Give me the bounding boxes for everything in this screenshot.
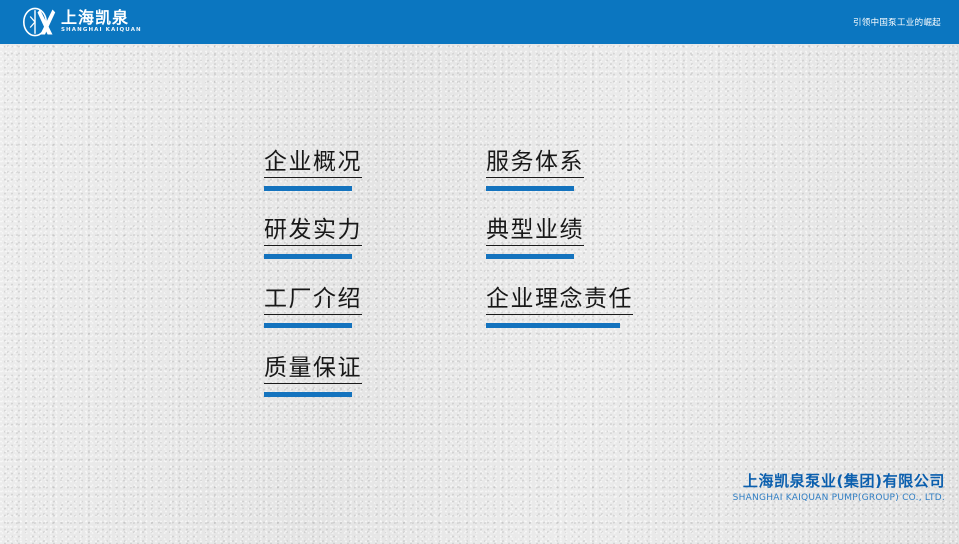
menu-item-label: 质量保证 (264, 354, 362, 384)
menu-item-quality-assurance[interactable]: 质量保证 (264, 354, 362, 397)
menu-item-label: 企业概况 (264, 148, 362, 178)
menu-item-corporate-philosophy-responsibility[interactable]: 企业理念责任 (486, 285, 633, 328)
menu-item-accent-bar (264, 186, 352, 191)
company-logo: 上海凯泉 SHANGHAI KAIQUAN (22, 7, 142, 37)
menu-item-accent-bar (486, 254, 574, 259)
menu-item-rd-strength[interactable]: 研发实力 (264, 216, 362, 259)
menu-item-company-overview[interactable]: 企业概况 (264, 148, 362, 191)
presentation-slide: 上海凯泉 SHANGHAI KAIQUAN 引领中国泵工业的崛起 企业概况 研发… (0, 0, 959, 544)
menu-item-accent-bar (264, 323, 352, 328)
menu-item-accent-bar (264, 254, 352, 259)
slide-header-bar: 上海凯泉 SHANGHAI KAIQUAN 引领中国泵工业的崛起 (0, 0, 959, 44)
header-slogan: 引领中国泵工业的崛起 (853, 16, 941, 28)
menu-item-typical-performance[interactable]: 典型业绩 (486, 216, 584, 259)
menu-item-accent-bar (264, 392, 352, 397)
logo-name-en: SHANGHAI KAIQUAN (61, 28, 142, 34)
footer-company-signature: 上海凯泉泵业(集团)有限公司 SHANGHAI KAIQUAN PUMP(GRO… (733, 472, 945, 504)
menu-item-label: 研发实力 (264, 216, 362, 246)
menu-item-service-system[interactable]: 服务体系 (486, 148, 584, 191)
logo-wordmark: 上海凯泉 SHANGHAI KAIQUAN (61, 10, 142, 34)
menu-item-accent-bar (486, 323, 620, 328)
menu-item-label: 工厂介绍 (264, 285, 362, 315)
logo-name-cn: 上海凯泉 (61, 10, 142, 26)
menu-item-label: 企业理念责任 (486, 285, 633, 315)
menu-item-label: 服务体系 (486, 148, 584, 178)
footer-company-name-en: SHANGHAI KAIQUAN PUMP(GROUP) CO., LTD. (733, 492, 945, 504)
menu-item-accent-bar (486, 186, 574, 191)
menu-item-label: 典型业绩 (486, 216, 584, 246)
kaiquan-circle-k-logo-icon (22, 7, 56, 37)
footer-company-name-cn: 上海凯泉泵业(集团)有限公司 (733, 472, 945, 490)
menu-item-factory-introduction[interactable]: 工厂介绍 (264, 285, 362, 328)
